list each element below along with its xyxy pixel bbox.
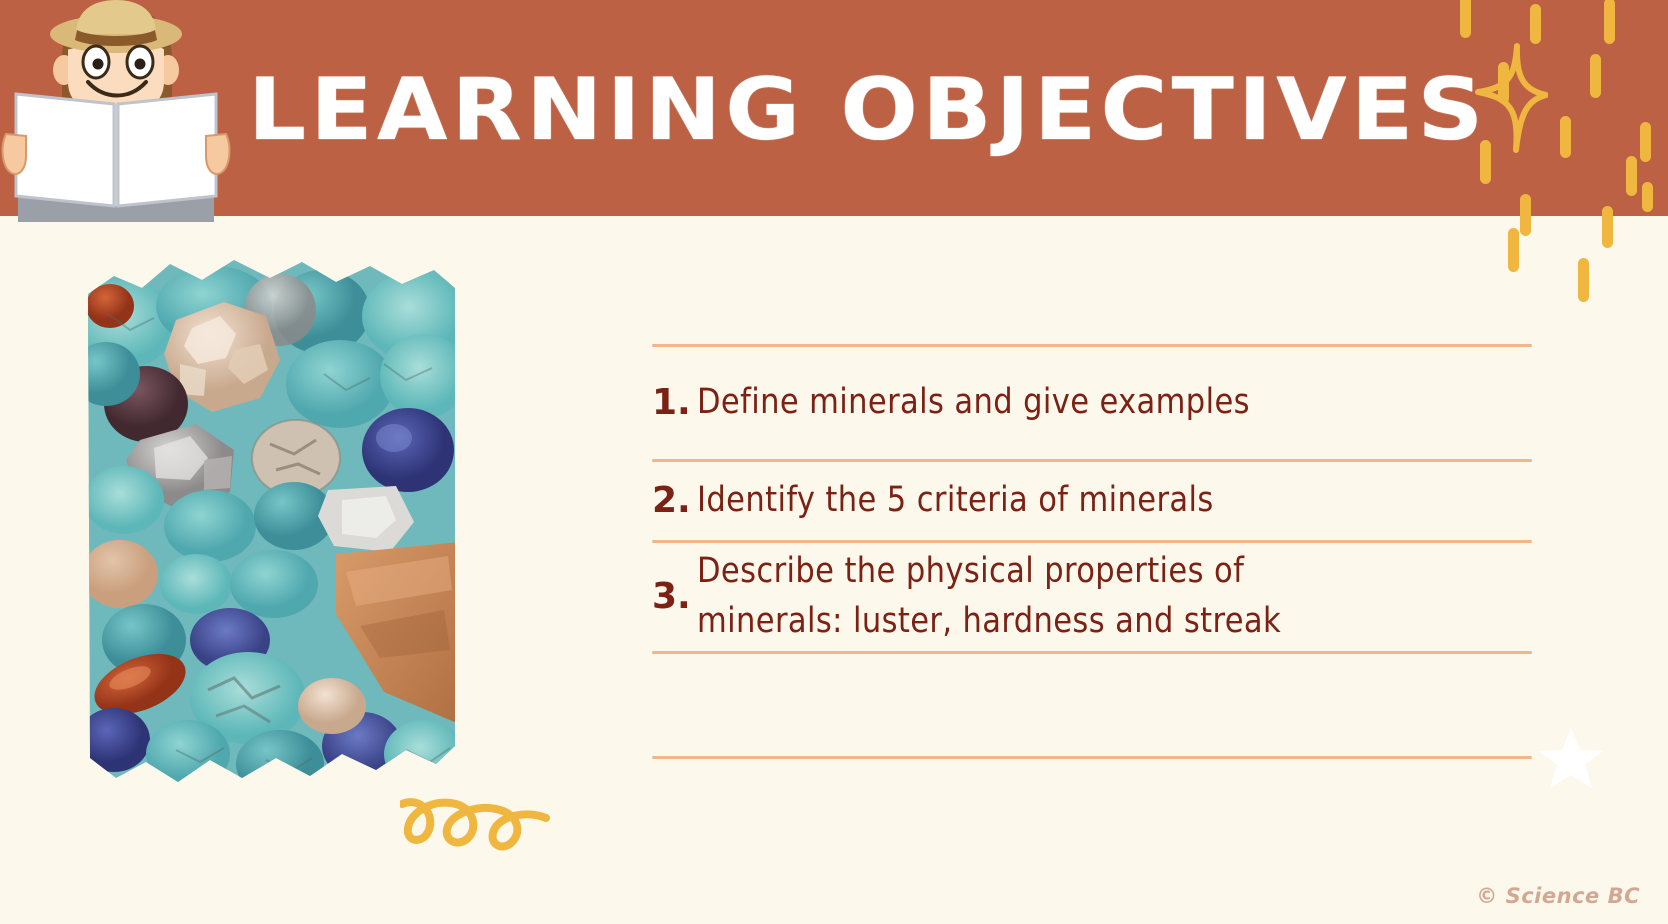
dash-decoration-3 [1604,0,1615,44]
objectives-empty-row [652,654,1532,756]
dash-decoration-6 [1560,116,1571,158]
objective-text-2: Identify the 5 criteria of minerals [697,475,1214,527]
dash-decoration-12 [1642,182,1653,212]
dash-decoration-1 [1460,0,1471,38]
copyright-credit: © Science BC [1476,884,1640,908]
loop-squiggle-icon [400,770,550,852]
dash-decoration-2 [1530,4,1541,44]
dash-decoration-10 [1520,194,1531,236]
five-point-star-icon [1538,726,1604,790]
objectives-list: 1. Define minerals and give examples 2. … [652,344,1532,759]
objective-text-3-line-2: minerals: luster, hardness and streak [697,601,1281,641]
objective-number-3: 3. [652,579,697,615]
minerals-photo [84,254,459,794]
boy-reading-book-icon [0,0,232,222]
page-title: LEARNING OBJECTIVES [248,52,1403,168]
objective-item-3: 3. Describe the physical properties of m… [652,543,1532,651]
objective-text-1: Define minerals and give examples [697,377,1250,429]
slide-root: 1. Define minerals and give examples 2. … [0,0,1668,924]
dash-decoration-11 [1602,206,1613,248]
objective-number-2: 2. [652,483,697,519]
dash-decoration-9 [1626,156,1637,196]
objective-text-3-line-1: Describe the physical properties of [697,551,1244,591]
objective-number-1: 1. [652,385,697,421]
dash-decoration-13 [1508,228,1519,272]
objective-text-3: Describe the physical properties of mine… [697,547,1281,646]
dash-decoration-14 [1578,258,1589,302]
dash-decoration-7 [1640,122,1651,162]
objective-item-1: 1. Define minerals and give examples [652,347,1532,459]
divider-rule-5 [652,756,1532,759]
objective-item-2: 2. Identify the 5 criteria of minerals [652,462,1532,540]
dash-decoration-5 [1590,54,1601,98]
